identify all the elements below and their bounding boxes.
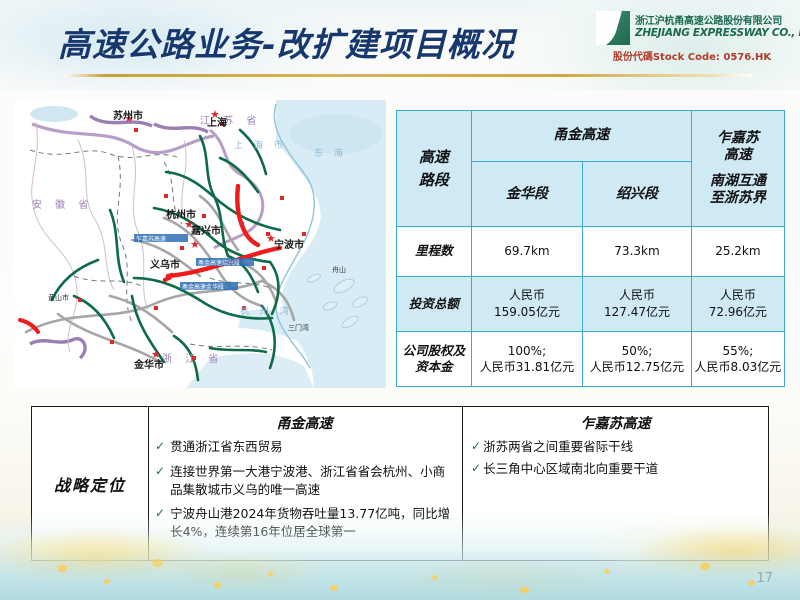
group-header-zhajiasu: 乍嘉苏 高速 南湖互通 至浙苏界 bbox=[691, 111, 784, 227]
svg-text:浙 江 省: 浙 江 省 bbox=[162, 352, 223, 365]
stock-code-label: 股份代碼Stock Code: 0576.HK bbox=[596, 48, 788, 63]
svg-text:金华市: 金华市 bbox=[133, 358, 164, 371]
inv-zjs-l2: 72.96亿元 bbox=[693, 304, 783, 320]
decorative-dot bbox=[268, 572, 273, 576]
eq-jh-l2: 人民币31.81亿元 bbox=[473, 359, 581, 375]
svg-text:宁波市: 宁波市 bbox=[274, 238, 304, 251]
decorative-dot bbox=[432, 575, 438, 580]
bullet-text: 浙苏两省之间重要省际干线 bbox=[483, 438, 760, 456]
svg-text:上海: 上海 bbox=[207, 116, 227, 129]
list-item: ✓ 连接世界第一大港宁波港、浙江省省会杭州、小商品集散城市义乌的唯一高速 bbox=[155, 463, 454, 499]
table-row: 投资总额 人民币 159.05亿元 人民币 127.47亿元 人民币 72.96… bbox=[397, 276, 785, 331]
corner-line-2: 路段 bbox=[398, 169, 470, 192]
svg-text:三门湾: 三门湾 bbox=[288, 323, 309, 332]
inv-jh-l2: 159.05亿元 bbox=[473, 304, 581, 320]
title-underline-rule bbox=[63, 74, 753, 77]
strategy-panel-zhajiasu: 乍嘉苏高速 ✓ 浙苏两省之间重要省际干线 ✓ 长三角中心区域南北向重要干道 bbox=[463, 406, 769, 561]
sub-header-jinhua: 金华段 bbox=[471, 162, 582, 227]
group-header-yongjin: 甬金高速 bbox=[471, 111, 691, 162]
inv-zjs-l1: 人民币 bbox=[693, 287, 783, 303]
panel-heading-yongjin: 甬金高速 bbox=[155, 413, 454, 433]
cell-equity-jinhua: 100%; 人民币31.81亿元 bbox=[471, 331, 582, 386]
zjs-line-2: 高速 bbox=[693, 147, 783, 165]
list-item: ✓ 宁波舟山港2024年货物吞吐量13.77亿吨，同比增长4%，连续第16年位居… bbox=[155, 505, 454, 541]
eq-jh-l1: 100%; bbox=[473, 343, 581, 359]
eq-label-l2: 资本金 bbox=[398, 359, 470, 375]
cell-mileage-shaoxing: 73.3km bbox=[583, 227, 692, 276]
page-title: 高速公路业务-改扩建项目概况 bbox=[58, 18, 515, 66]
cell-mileage-zhajiasu: 25.2km bbox=[691, 227, 784, 276]
check-icon: ✓ bbox=[471, 438, 481, 456]
cell-investment-jinhua: 人民币 159.05亿元 bbox=[471, 276, 582, 331]
decorative-dot bbox=[214, 582, 221, 588]
list-item: ✓ 贯通浙江省东西贸易 bbox=[155, 438, 454, 456]
list-item: ✓ 长三角中心区域南北向重要干道 bbox=[471, 460, 760, 478]
eq-zjs-l1: 55%; bbox=[693, 343, 783, 359]
zjs-line-1: 乍嘉苏 bbox=[693, 130, 783, 148]
eq-label-l1: 公司股权及 bbox=[398, 343, 470, 359]
panel-heading-zhajiasu: 乍嘉苏高速 bbox=[471, 413, 760, 433]
inv-sx-l1: 人民币 bbox=[584, 287, 690, 303]
svg-text:乍嘉苏高速: 乍嘉苏高速 bbox=[136, 235, 166, 243]
page-number: 17 bbox=[756, 571, 773, 586]
check-icon: ✓ bbox=[155, 505, 165, 541]
bullet-text: 连接世界第一大港宁波港、浙江省省会杭州、小商品集散城市义乌的唯一高速 bbox=[170, 463, 454, 499]
table-row: 里程数 69.7km 73.3km 25.2km bbox=[397, 227, 785, 276]
svg-text:★: ★ bbox=[190, 238, 200, 251]
svg-text:杭州市: 杭州市 bbox=[166, 208, 196, 221]
row-label-investment: 投资总额 bbox=[397, 276, 472, 331]
svg-text:嘉兴市: 嘉兴市 bbox=[190, 224, 221, 237]
strategy-strip: 战略定位 甬金高速 ✓ 贯通浙江省东西贸易 ✓ 连接世界第一大港宁波港、浙江省省… bbox=[31, 406, 769, 561]
svg-text:杭 州 湾: 杭 州 湾 bbox=[240, 305, 293, 317]
row-label-mileage: 里程数 bbox=[397, 227, 472, 276]
decorative-dot bbox=[58, 565, 67, 572]
company-name-en: ZHEJIANG EXPRESSWAY CO., LTD. bbox=[635, 28, 800, 39]
eq-zjs-l2: 人民币8.03亿元 bbox=[693, 359, 783, 375]
decorative-dot bbox=[604, 569, 610, 574]
zhejiang-highway-map: ★★ ★★ ★★ 江 苏 省 安 徽 省 浙 江 省 上 海 市 东 海 杭 州… bbox=[14, 100, 386, 388]
check-icon: ✓ bbox=[155, 463, 165, 499]
strategy-row-label: 战略定位 bbox=[31, 406, 149, 561]
svg-text:舟山: 舟山 bbox=[332, 265, 346, 274]
decorative-dot bbox=[748, 580, 755, 586]
list-item: ✓ 浙苏两省之间重要省际干线 bbox=[471, 438, 760, 456]
svg-text:苏州市: 苏州市 bbox=[113, 109, 143, 122]
strategy-panel-yongjin: 甬金高速 ✓ 贯通浙江省东西贸易 ✓ 连接世界第一大港宁波港、浙江省省会杭州、小… bbox=[149, 406, 463, 561]
cell-investment-shaoxing: 人民币 127.47亿元 bbox=[583, 276, 692, 331]
bullet-text: 宁波舟山港2024年货物吞吐量13.77亿吨，同比增长4%，连续第16年位居全球… bbox=[170, 505, 454, 541]
decorative-dot bbox=[520, 587, 529, 593]
cell-investment-zhajiasu: 人民币 72.96亿元 bbox=[691, 276, 784, 331]
check-icon: ✓ bbox=[471, 460, 481, 478]
bullet-text: 贯通浙江省东西贸易 bbox=[170, 438, 454, 456]
row-label-equity: 公司股权及 资本金 bbox=[397, 331, 472, 386]
cell-equity-shaoxing: 50%; 人民币12.75亿元 bbox=[583, 331, 692, 386]
inv-sx-l2: 127.47亿元 bbox=[584, 304, 690, 320]
eq-sx-l2: 人民币12.75亿元 bbox=[584, 359, 690, 375]
company-brand: 浙江沪杭甬高速公路股份有限公司 ZHEJIANG EXPRESSWAY CO.,… bbox=[596, 11, 788, 63]
sub-header-shaoxing: 绍兴段 bbox=[583, 162, 692, 227]
decorative-dot bbox=[330, 585, 338, 591]
svg-text:义乌市: 义乌市 bbox=[150, 258, 180, 271]
corner-line-1: 高速 bbox=[398, 146, 470, 169]
svg-text:甬金高速金华段: 甬金高速金华段 bbox=[182, 283, 224, 291]
project-overview-table: 甬金高速 高速 路段 甬金高速 乍嘉苏 高速 南湖互通 至浙苏界 金华段 绍兴段… bbox=[396, 110, 785, 387]
zjs-sub-line-2: 至浙苏界 bbox=[693, 190, 783, 208]
check-icon: ✓ bbox=[155, 438, 165, 456]
slide-root: 高速公路业务-改扩建项目概况 浙江沪杭甬高速公路股份有限公司 ZHEJIANG … bbox=[0, 0, 800, 600]
inv-jh-l1: 人民币 bbox=[473, 287, 581, 303]
svg-text:甬金高速绍兴段: 甬金高速绍兴段 bbox=[198, 259, 240, 267]
decorative-dot bbox=[104, 579, 110, 584]
table-row: 公司股权及 资本金 100%; 人民币31.81亿元 50%; 人民币12.75… bbox=[397, 331, 785, 386]
svg-text:黄山市: 黄山市 bbox=[48, 293, 69, 302]
svg-text:安 徽 省: 安 徽 省 bbox=[32, 198, 93, 211]
table-header-row-group: 甬金高速 高速 路段 甬金高速 乍嘉苏 高速 南湖互通 至浙苏界 bbox=[397, 111, 785, 162]
svg-text:东 海: 东 海 bbox=[314, 147, 347, 159]
cell-mileage-jinhua: 69.7km bbox=[471, 227, 582, 276]
bullet-text: 长三角中心区域南北向重要干道 bbox=[483, 460, 760, 478]
table-corner-header: 甬金高速 高速 路段 bbox=[397, 111, 472, 227]
cell-equity-zhajiasu: 55%; 人民币8.03亿元 bbox=[691, 331, 784, 386]
decorative-dot bbox=[700, 563, 710, 570]
zjs-sub-line-1: 南湖互通 bbox=[693, 173, 783, 191]
eq-sx-l1: 50%; bbox=[584, 343, 690, 359]
svg-text:上 海 市: 上 海 市 bbox=[234, 139, 287, 151]
expressway-logo-icon bbox=[596, 11, 630, 45]
